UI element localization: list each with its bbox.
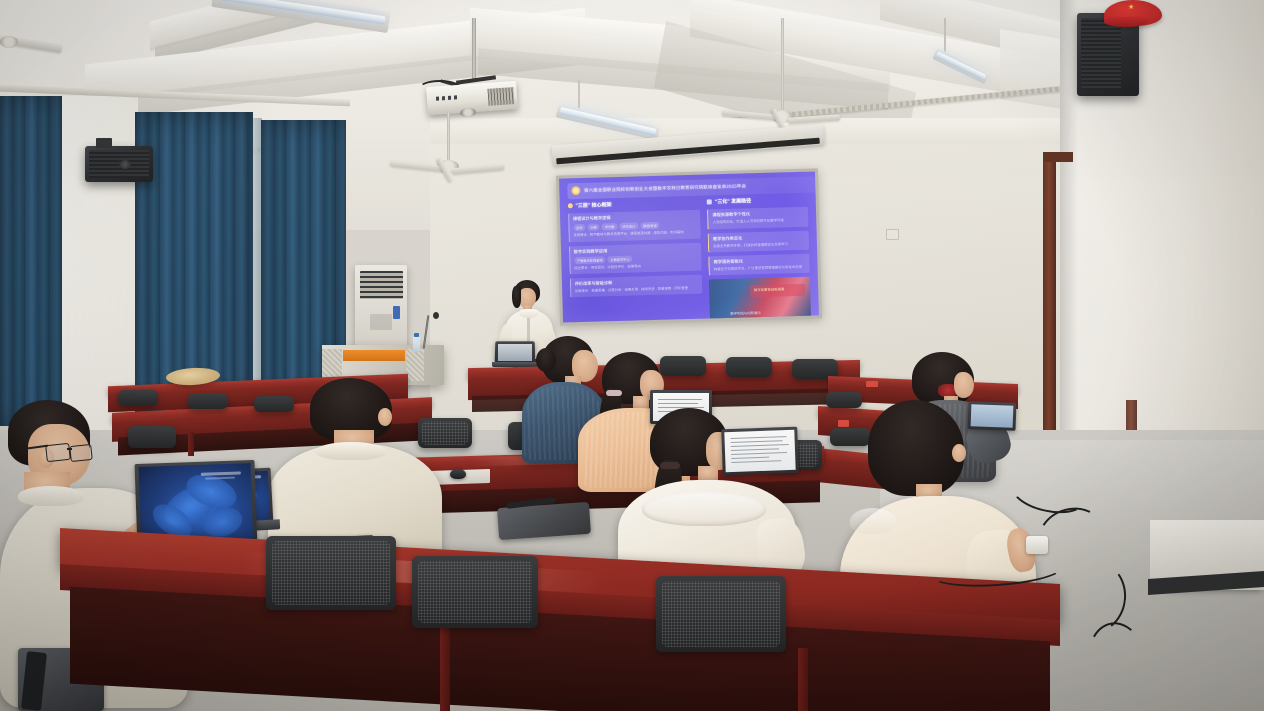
eyeglasses-lens-left — [45, 443, 71, 462]
slide-photo-overlay-label: 数字化教育创新成果 — [754, 286, 785, 292]
slide-right-column: "三化" 发展路径 课程资源数字个性化 人员结构优化，打造人人可学的数字化教学环… — [707, 196, 811, 313]
slide-chip: 评价设计 — [619, 223, 638, 231]
chair-front-mid-mesh — [418, 561, 532, 623]
attendee-navy-bun — [536, 348, 556, 372]
slide-left-heading-row: "三层" 核心框架 — [567, 199, 699, 210]
path-icon — [707, 200, 712, 205]
podium-side-panel-right — [406, 349, 424, 381]
slide-left-heading: "三层" 核心框架 — [575, 202, 611, 210]
slide-right-card-heading: 教学协作常态化 — [713, 233, 805, 242]
slide-photo-caption-label: 教学实践与创新展示 — [730, 310, 761, 316]
slide-right-card-subtitle: 构建全方位智能平台，广泛推进智慧管理建设与新技术应用 — [714, 264, 806, 272]
doc-line — [731, 440, 783, 443]
ceiling-fan-3-hub — [0, 36, 18, 48]
slide-card: 数字实践教学应用 产教融合实践基地 以赛促学中心 校企联合 · 项目驱动 · 过… — [569, 242, 702, 274]
slide-right-card: 课程资源数字个性化 人员结构优化，打造人人可学的数字化教学环境 — [707, 207, 809, 229]
attendee-cream-shoulder-seam — [850, 508, 896, 534]
slide-card-subtitle: 资源建设 · 数字教材与教学资源平台 · 课程资源共建 · 虚拟仿真 · 实训基… — [573, 230, 696, 239]
doc-line — [731, 460, 781, 463]
doc-line — [731, 457, 769, 459]
wall-speaker-left-bracket — [96, 138, 112, 148]
doc-line — [731, 444, 789, 447]
gooseneck-microphone-head — [433, 312, 439, 319]
classroom-photo-scene: ★ 第六届全国职业院校创新创业大会暨数字农林日教育研究院联席座谈会2025年会 — [0, 0, 1264, 711]
window-curtain-left — [0, 96, 62, 426]
slide-right-card-heading: 课程资源数字个性化 — [712, 210, 804, 219]
slide-right-card: 教学服务智能化 构建全方位智能平台，广泛推进智慧管理建设与新技术应用 — [708, 253, 810, 275]
wall-outlet-icon — [886, 229, 899, 240]
chair-front-right-mesh — [662, 581, 780, 647]
wall-speaker-right-grille — [1081, 18, 1121, 90]
slide-right-card: 教学协作常态化 完善全员教学环境，打造协同管理模式与共享学习 — [708, 230, 810, 252]
slide-chip: 以赛促学中心 — [607, 255, 632, 263]
air-conditioner-badge — [393, 306, 400, 319]
presenter-blouse-collar — [519, 309, 539, 318]
slide-card: 课程设计与教学逻辑 目标 内容 学与教 评价设计 数据/资源 资源建设 · 数字… — [568, 210, 701, 242]
slide-right-heading: "三化" 发展路径 — [715, 198, 751, 206]
eyeglasses-bridge — [67, 448, 72, 450]
slide-left-column: "三层" 核心框架 课程设计与教学逻辑 目标 内容 学与教 评价设计 数据/资源… — [567, 199, 702, 316]
cap-star-icon: ★ — [1128, 4, 1134, 11]
slide-card: 评价改革与智能诊断 诊断体系 · 数据采集 · 过程分析 · 结果反馈 · 持续… — [569, 274, 702, 297]
attendee-man-glasses-collar — [18, 486, 84, 506]
wallpaper-caption — [201, 471, 241, 475]
slide-photo-inset: 数字化教育创新成果 教学实践与创新展示 — [709, 276, 811, 320]
podium-accent-band — [343, 350, 405, 361]
slide-right-heading-row: "三化" 发展路径 — [707, 196, 808, 206]
gooseneck-microphone-stem — [423, 315, 430, 349]
slide-right-card-subtitle: 完善全员教学环境，打造协同管理模式与共享学习 — [713, 241, 805, 249]
slide-body: "三层" 核心框架 课程设计与教学逻辑 目标 内容 学与教 评价设计 数据/资源… — [567, 196, 811, 316]
gear-icon — [567, 204, 572, 209]
doc-line — [731, 452, 787, 455]
red-cap-brim — [1104, 17, 1148, 27]
attendee-gray-face — [954, 372, 974, 398]
desk-row-front-leg-b — [798, 648, 808, 711]
attendee-man-cream-collar — [316, 442, 386, 460]
doc-line — [731, 448, 779, 451]
slide-card-subtitle: 校企联合 · 项目驱动 · 过程性评价 · 成果导向 — [574, 262, 697, 271]
projector-mount-pole — [472, 18, 476, 82]
slide-chip: 内容 — [587, 224, 600, 231]
attendee-peach-hair-tie — [606, 390, 622, 396]
door-frame-top — [1043, 152, 1073, 162]
attendee-cream-hair — [868, 400, 964, 496]
slide-chip: 目标 — [573, 224, 586, 231]
projection-screen: 第六届全国职业院校创新创业大会暨数字农林日教育研究院联席座谈会2025年会 "三… — [559, 171, 819, 322]
doc-line — [731, 436, 787, 439]
projector-vent — [487, 87, 514, 106]
projector-cable — [418, 80, 462, 98]
slide-emblem-icon — [571, 186, 580, 195]
eyeglasses-lens-right — [69, 444, 93, 462]
air-conditioner-panel — [370, 314, 392, 330]
slide-chip: 学与教 — [602, 223, 618, 230]
chair-front-left-mesh — [272, 541, 390, 605]
attendee-man-cream-ear — [378, 408, 392, 426]
water-bottle-cap — [414, 333, 419, 337]
ceiling-fan-2-rod — [781, 18, 784, 114]
slide-title-text: 第六届全国职业院校创新创业大会暨数字农林日教育研究院联席座谈会2025年会 — [584, 183, 746, 194]
slide-chip: 数据/资源 — [640, 222, 660, 230]
attendee-white-ruffle-collar — [642, 492, 766, 526]
doc-line — [658, 399, 702, 400]
doc-line — [658, 403, 698, 404]
ceiling-fan-1-rod — [447, 112, 450, 164]
slide-right-card-subtitle: 人员结构优化，打造人人可学的数字化教学环境 — [713, 218, 805, 226]
presenter-hair-back — [512, 286, 521, 308]
attendee-cream-ear — [952, 444, 966, 462]
slide-card-subtitle: 诊断体系 · 数据采集 · 过程分析 · 结果反馈 · 持续改进 · 质量保障 … — [575, 285, 698, 294]
slide-chip: 产教融合实践基地 — [574, 256, 606, 264]
water-bottle — [413, 337, 420, 352]
slide-title-bar: 第六届全国职业院校创新创业大会暨数字农林日教育研究院联席座谈会2025年会 — [567, 176, 816, 199]
attendee-white-hair-tie — [660, 462, 680, 469]
air-conditioner-grille — [360, 271, 403, 299]
chair-back-row-0-b[interactable] — [726, 357, 772, 377]
slide-right-card-heading: 教学服务智能化 — [714, 256, 806, 265]
desk-row-front-leg-a — [440, 624, 450, 711]
desk-row-right-tag — [866, 381, 878, 387]
wall-speaker-left-cone — [119, 160, 131, 169]
attendee-white-laptop-screen — [724, 430, 795, 472]
